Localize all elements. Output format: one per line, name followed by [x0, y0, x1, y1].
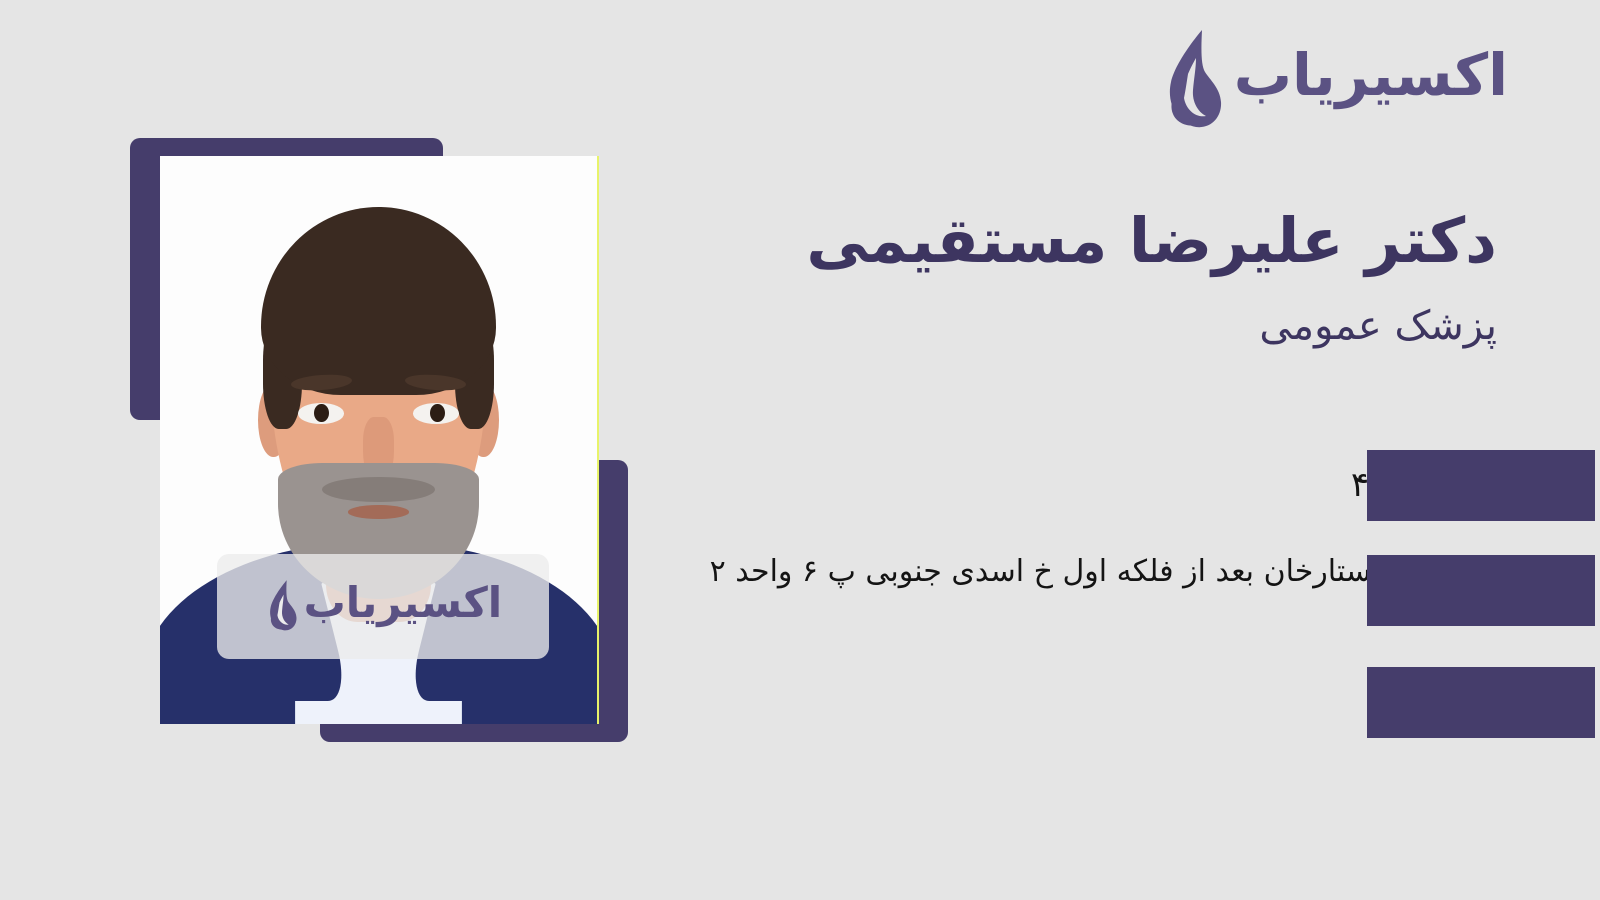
brand-name: اکسیریاب — [1234, 46, 1508, 114]
doctor-specialty: پزشک عمومی — [697, 302, 1497, 350]
brand-logo[interactable]: اکسیریاب — [1158, 28, 1508, 132]
decor-bar-1 — [1367, 450, 1595, 521]
watermark-text: اکسیریاب — [304, 582, 503, 630]
portrait-lips — [348, 505, 409, 519]
portrait-eye-left — [298, 403, 344, 423]
doctor-photo: اکسیریاب — [160, 156, 599, 724]
portrait-pupil-right — [430, 404, 445, 422]
decor-bar-3 — [1367, 667, 1595, 738]
doctor-info: دکتر علیرضا مستقیمی پزشک عمومی — [697, 205, 1497, 350]
portrait-eye-right — [413, 403, 459, 423]
decor-bar-2 — [1367, 555, 1595, 626]
photo-watermark: اکسیریاب — [217, 554, 549, 659]
doctor-name: دکتر علیرضا مستقیمی — [697, 205, 1497, 276]
flame-drop-icon — [264, 579, 298, 633]
flame-drop-icon — [1158, 28, 1224, 132]
photo-block: اکسیریاب — [130, 138, 630, 742]
doctor-profile-card: اکسیریاب — [0, 0, 1600, 900]
decor-bars — [1365, 450, 1595, 740]
portrait-pupil-left — [314, 404, 329, 422]
portrait-hair — [261, 207, 497, 394]
